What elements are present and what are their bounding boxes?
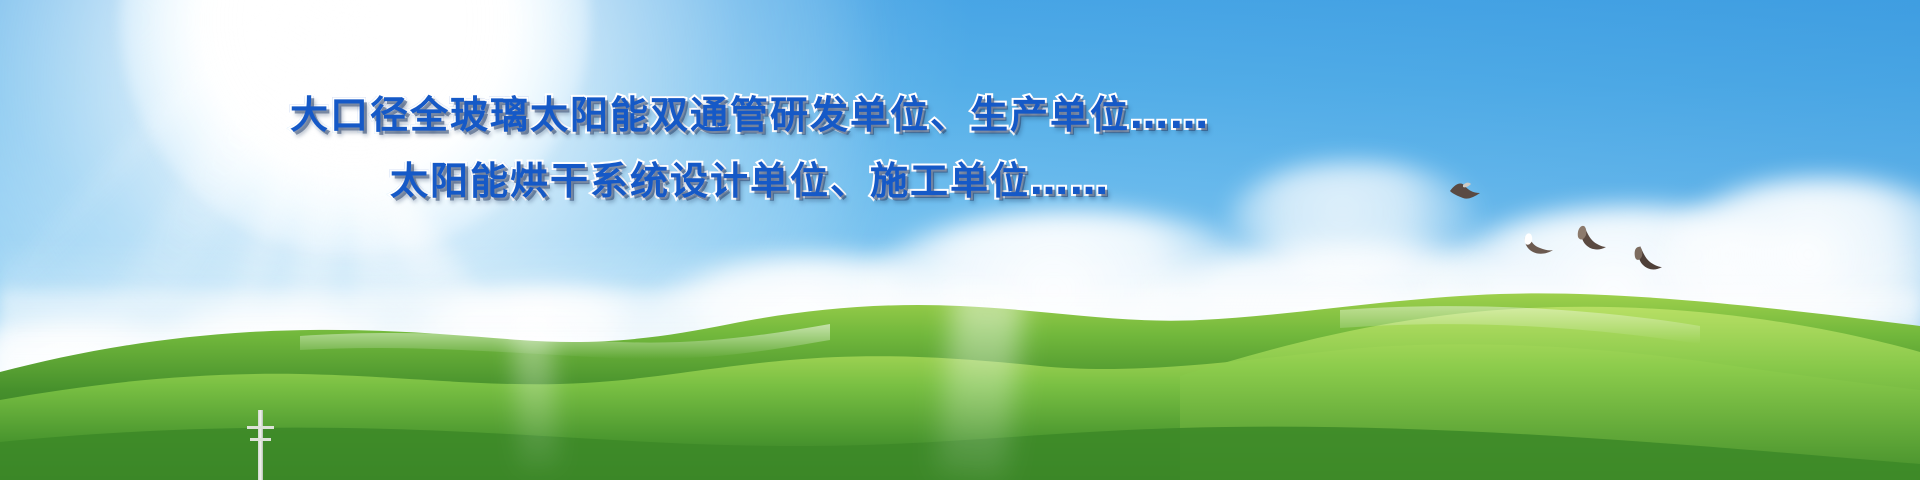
hero-banner: 大口径全玻璃太阳能双通管研发单位、生产单位…… 太阳能烘干系统设计单位、施工单位… <box>0 0 1920 480</box>
bird-icon <box>1630 244 1662 281</box>
bird-icon <box>1518 232 1554 267</box>
bird-icon <box>1572 224 1606 263</box>
green-forested-hills <box>0 280 1920 480</box>
utility-pole <box>258 410 263 480</box>
bird-icon <box>1448 180 1482 211</box>
